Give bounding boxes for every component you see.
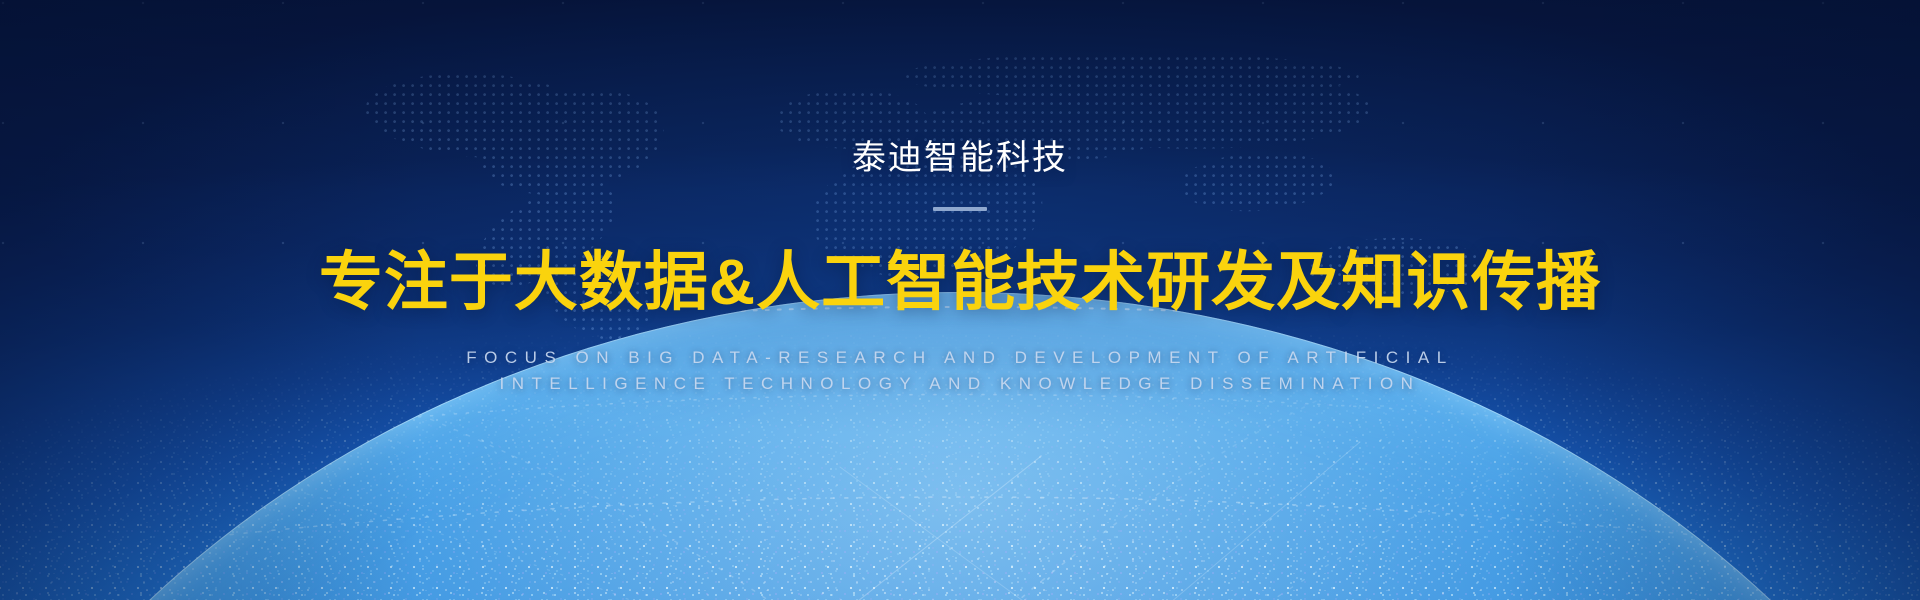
subtitle: FOCUS ON BIG DATA-RESEARCH AND DEVELOPME… — [0, 319, 1920, 396]
banner-content: 泰迪智能科技 专注于大数据&人工智能技术研发及知识传播 FOCUS ON BIG… — [0, 0, 1920, 396]
brand-name: 泰迪智能科技 — [0, 0, 1920, 177]
headline: 专注于大数据&人工智能技术研发及知识传播 — [0, 211, 1920, 319]
subtitle-line-1: FOCUS ON BIG DATA-RESEARCH AND DEVELOPME… — [466, 348, 1453, 367]
subtitle-line-2: INTELLIGENCE TECHNOLOGY AND KNOWLEDGE DI… — [0, 371, 1920, 397]
hero-banner: 泰迪智能科技 专注于大数据&人工智能技术研发及知识传播 FOCUS ON BIG… — [0, 0, 1920, 600]
